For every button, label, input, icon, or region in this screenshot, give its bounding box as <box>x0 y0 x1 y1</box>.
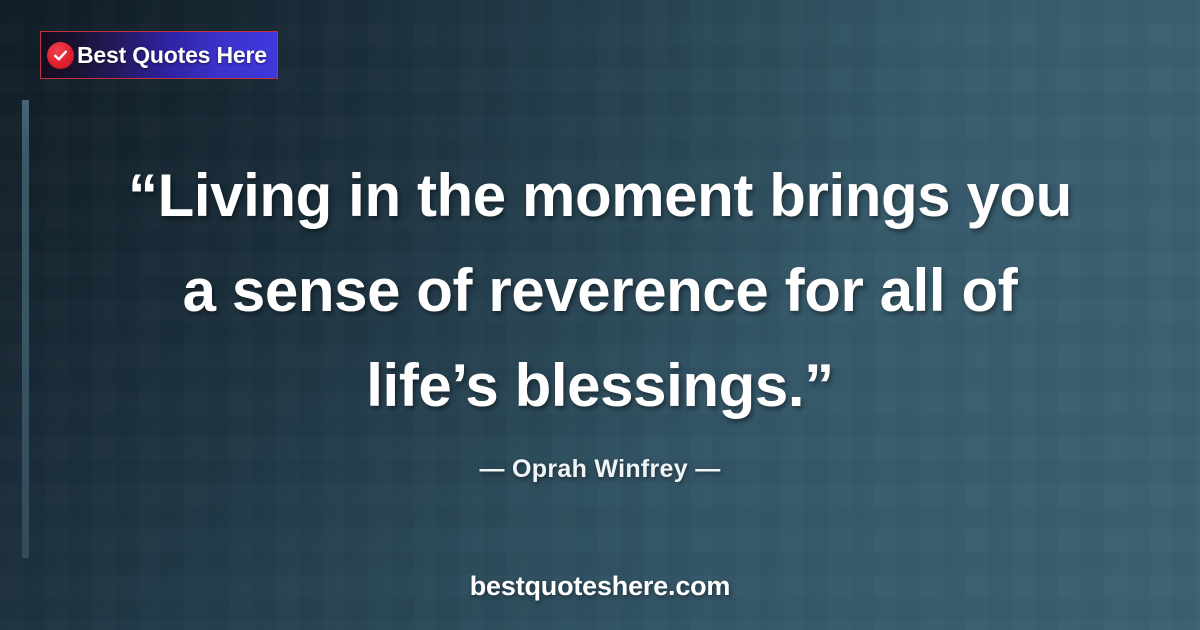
footer-website: bestquoteshere.com <box>0 571 1200 602</box>
left-accent-bar <box>22 100 29 558</box>
quote-attribution: — Oprah Winfrey — <box>0 455 1200 484</box>
brand-badge-label: Best Quotes Here <box>77 42 267 69</box>
quote-text: “Living in the moment brings you a sense… <box>60 148 1140 433</box>
quote-line-3: life’s blessings.” <box>60 338 1140 433</box>
verified-check-icon <box>47 42 74 69</box>
quote-card: Best Quotes Here “Living in the moment b… <box>0 0 1200 630</box>
brand-badge[interactable]: Best Quotes Here <box>40 31 278 79</box>
quote-line-2: a sense of reverence for all of <box>60 243 1140 338</box>
quote-line-1: “Living in the moment brings you <box>60 148 1140 243</box>
